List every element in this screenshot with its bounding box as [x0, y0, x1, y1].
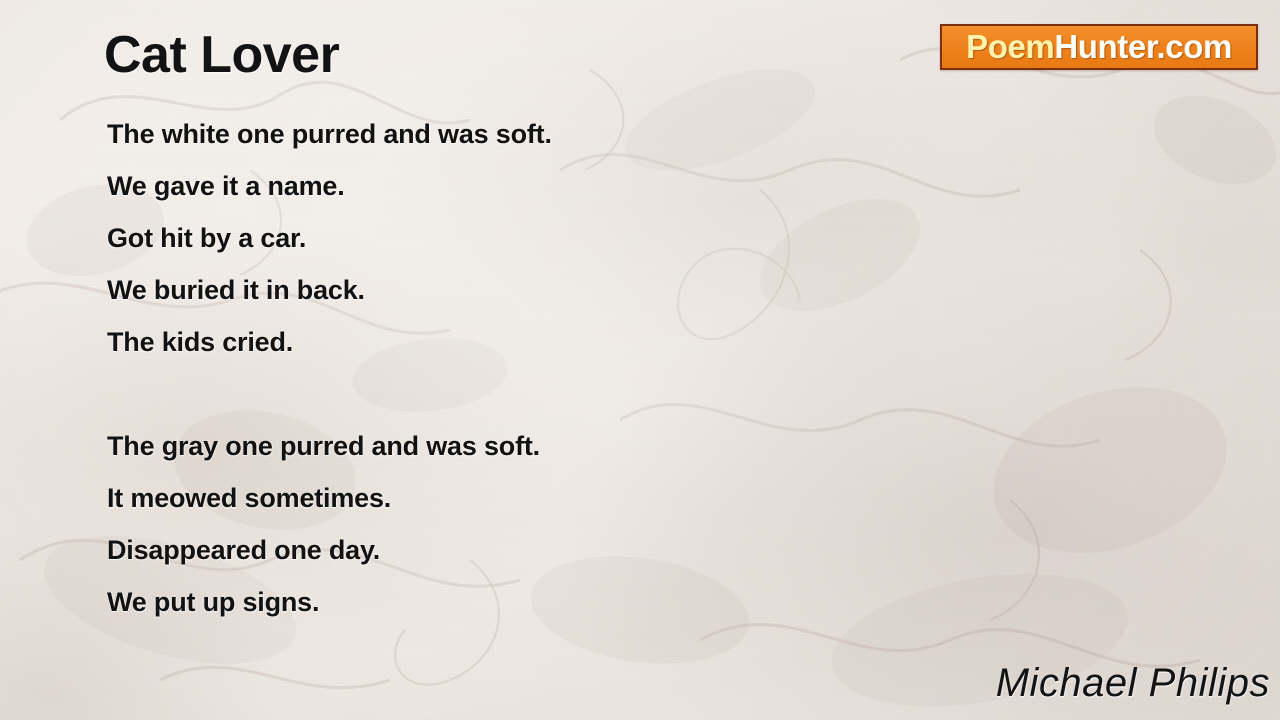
poem-line: We buried it in back. [107, 264, 907, 316]
poem-title: Cat Lover [104, 26, 339, 84]
poem-stanza-break [107, 368, 907, 420]
poem-line: Disappeared one day. [107, 524, 907, 576]
logo-word-poem: Poem [966, 28, 1054, 65]
poem-author: Michael Philips [996, 660, 1270, 706]
poemhunter-logo-text: PoemHunter.com [966, 30, 1232, 64]
poem-line: The gray one purred and was soft. [107, 420, 907, 472]
poem-line: The white one purred and was soft. [107, 108, 907, 160]
poem-line: It meowed sometimes. [107, 472, 907, 524]
poem-line: Got hit by a car. [107, 212, 907, 264]
logo-word-hunter-com: Hunter.com [1054, 28, 1232, 65]
poem-card: Cat Lover PoemHunter.com The white one p… [0, 0, 1280, 720]
poemhunter-logo[interactable]: PoemHunter.com [940, 24, 1258, 70]
poem-text-body: The white one purred and was soft. We ga… [107, 108, 907, 628]
poem-line: We put up signs. [107, 576, 907, 628]
poem-line: We gave it a name. [107, 160, 907, 212]
poem-line: The kids cried. [107, 316, 907, 368]
